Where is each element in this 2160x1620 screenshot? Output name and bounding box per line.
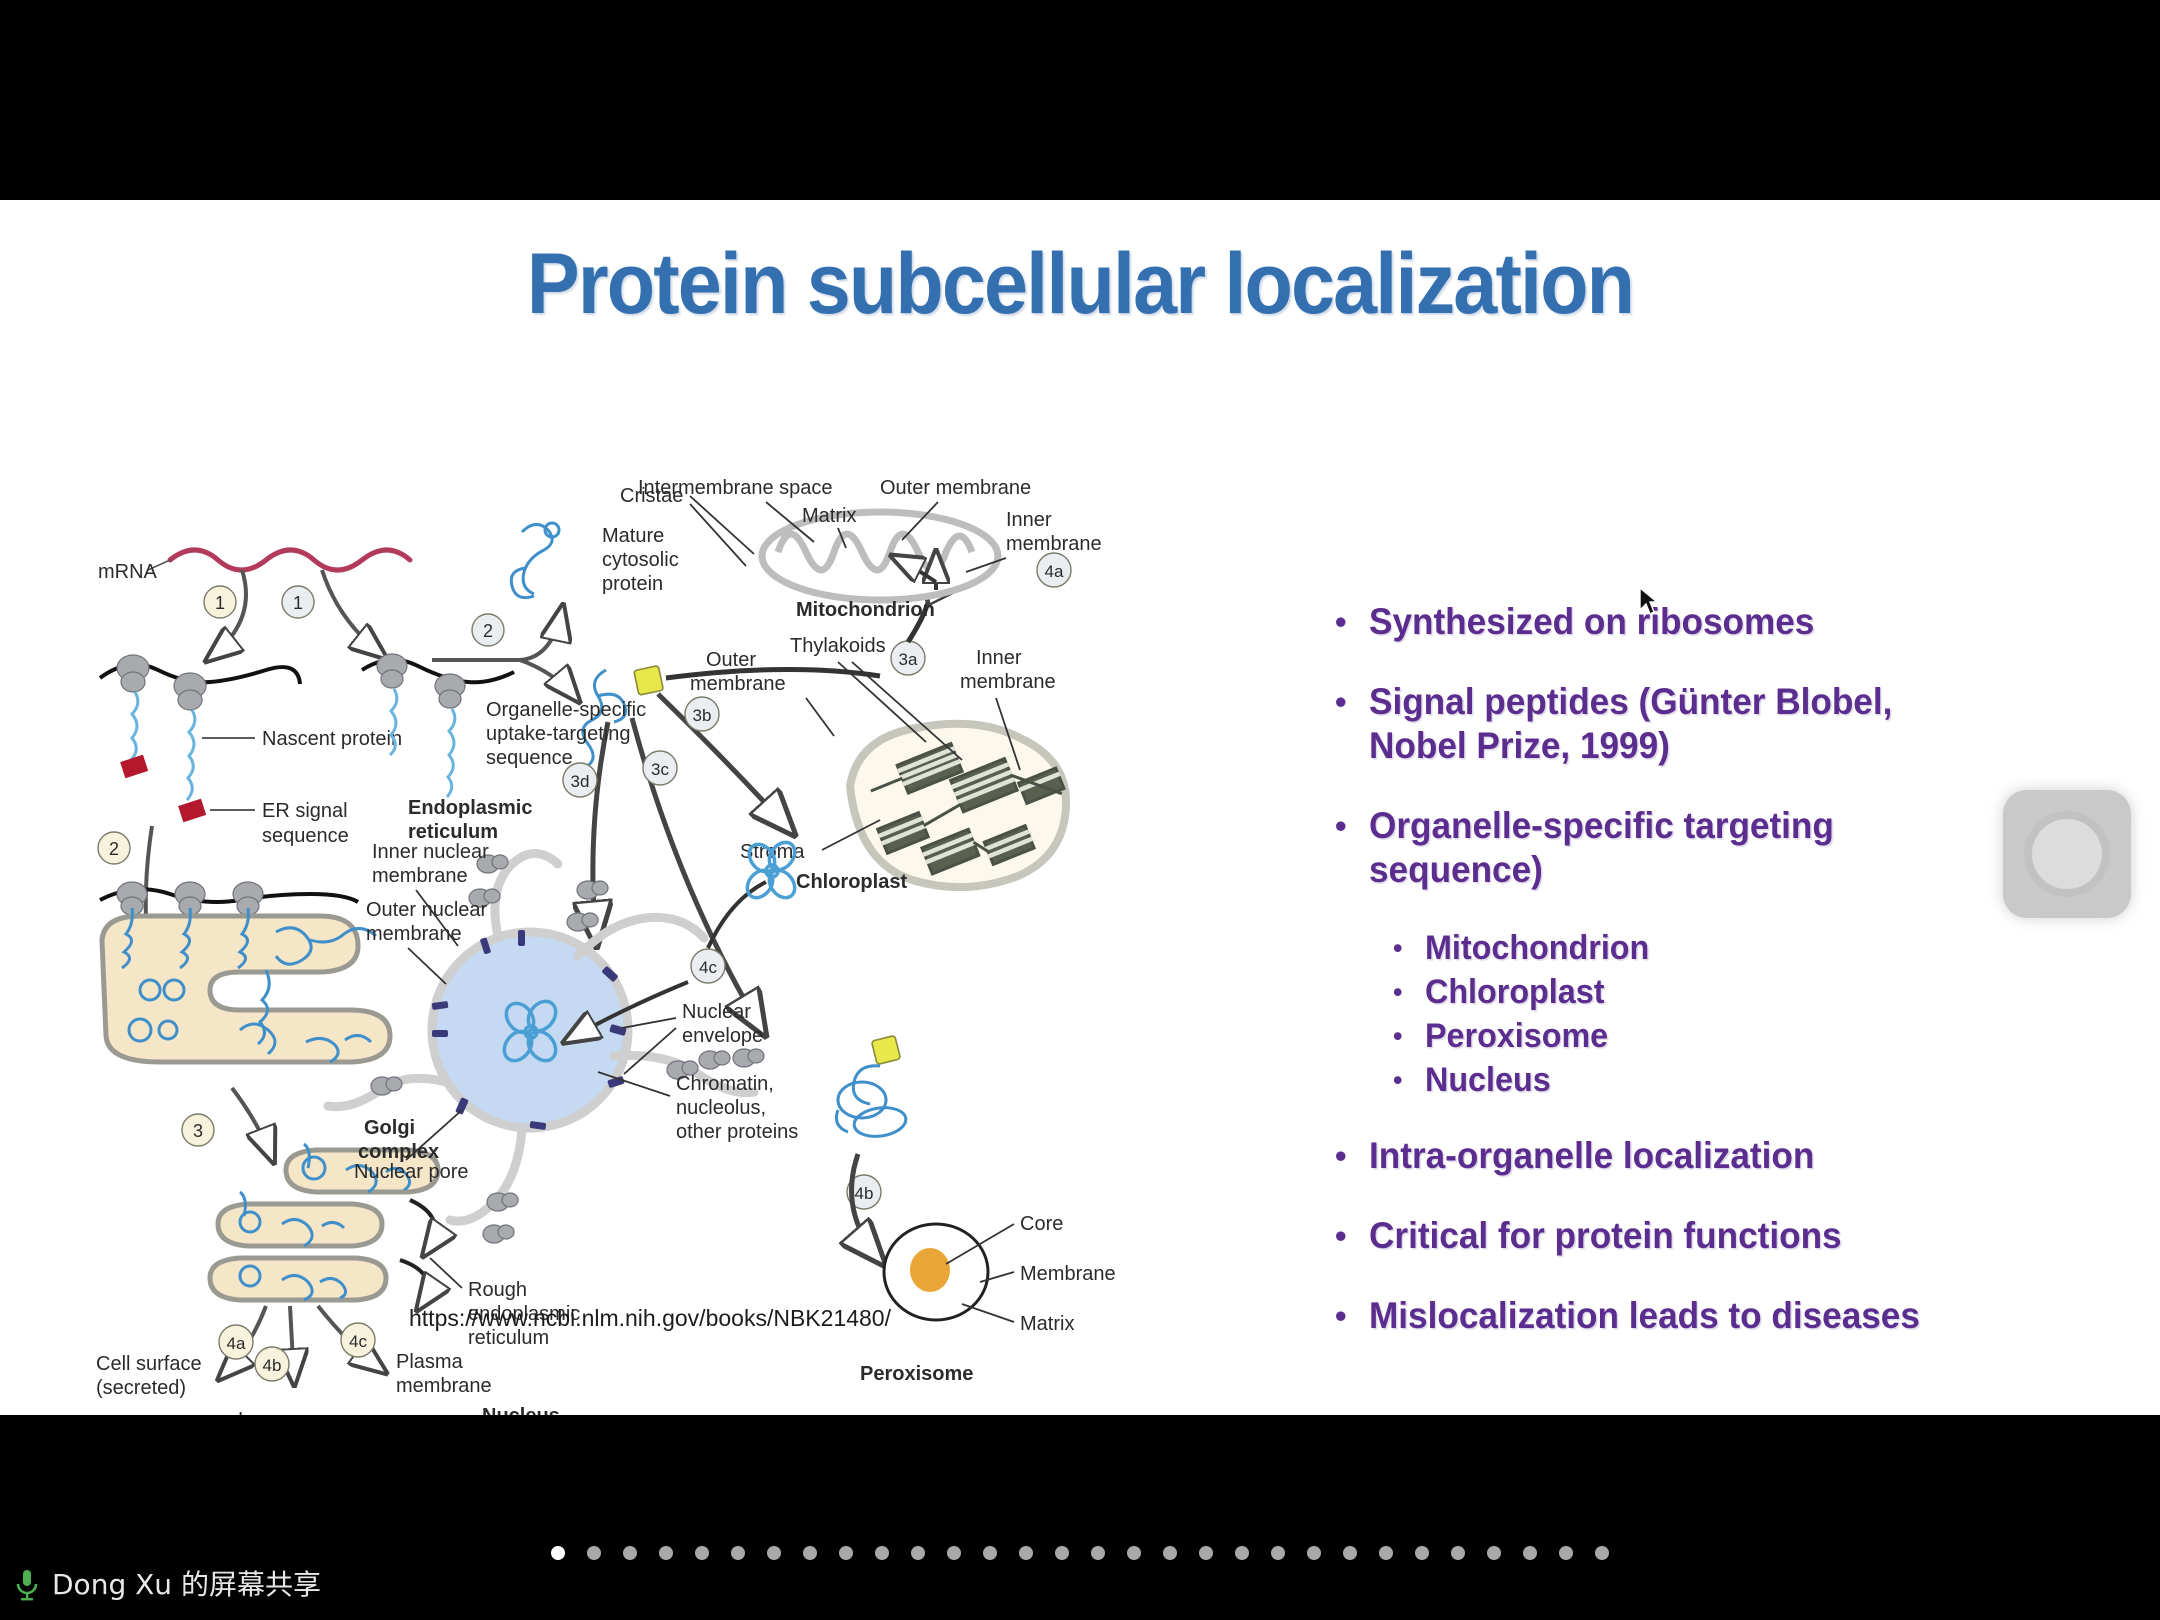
share-status: Dong Xu 的屏幕共享 [14,1568,321,1602]
label-outer-membrane-mito: Outer membrane [880,477,1031,499]
label-chromatin-2: nucleolus, [676,1097,766,1119]
peroxisome-core [910,1248,950,1292]
step-badge-2-left: 2 [98,832,130,864]
label-cell-surface-2: (secreted) [96,1377,186,1399]
bullet-marker: • [1393,1060,1425,1100]
peroxisome-targeting-tag [871,1035,900,1064]
svg-text:3b: 3b [693,706,712,725]
label-golgi-1: Golgi [364,1117,415,1139]
slide-pagination-dots[interactable] [0,1546,2160,1560]
share-status-label: Dong Xu 的屏幕共享 [52,1568,321,1602]
svg-text:2: 2 [483,621,493,641]
pagination-dot[interactable] [659,1546,673,1560]
mouse-cursor [1638,586,1660,616]
video-thumbnail-avatar [2032,819,2102,889]
label-plasma-2: membrane [396,1375,492,1397]
pagination-dot[interactable] [695,1546,709,1560]
sub-bullet-item-2: • Peroxisome [1393,1016,2095,1056]
pagination-dot[interactable] [839,1546,853,1560]
pagination-dot[interactable] [1235,1546,1249,1560]
pagination-dot[interactable] [947,1546,961,1560]
pagination-dot[interactable] [587,1546,601,1560]
label-mature-3: protein [602,573,663,595]
label-uptake-1: Organelle-specific [486,699,646,721]
bullet-item-3: • Intra-organelle localization [1335,1134,2095,1178]
bullet-item-0: • Synthesized on ribosomes [1335,600,2095,644]
pagination-dot[interactable] [875,1546,889,1560]
step-badge-4c-nucleus: 4c [691,949,725,983]
label-cell-surface-1: Cell surface [96,1353,202,1375]
label-nuclear-pore: Nuclear pore [354,1161,469,1183]
bullet-marker: • [1393,972,1425,1012]
pagination-dot[interactable] [1199,1546,1213,1560]
pagination-dot[interactable] [1091,1546,1105,1560]
label-chloroplast: Chloroplast [796,871,907,893]
svg-text:4c: 4c [349,1332,367,1351]
svg-text:4b: 4b [855,1184,874,1203]
pagination-dot[interactable] [1163,1546,1177,1560]
participant-video-thumbnail[interactable] [2003,790,2131,918]
label-inner-membrane-chloro-2: membrane [960,671,1056,693]
sub-bullet-item-3: • Nucleus [1393,1060,2095,1100]
sub-bullet-text: Peroxisome [1425,1016,1608,1056]
bullet-text: Intra-organelle localization [1369,1134,1814,1178]
targeting-tag [634,666,664,696]
label-er-2: reticulum [408,821,498,843]
pagination-dot[interactable] [623,1546,637,1560]
svg-text:3c: 3c [651,760,669,779]
label-core: Core [1020,1213,1063,1235]
sub-bullet-text: Nucleus [1425,1060,1551,1100]
peroxisome-cargo-protein [836,1066,907,1140]
label-inner-membrane-chloro-1: Inner [976,647,1022,669]
step-badge-3a: 3a [891,641,925,675]
step-badge-3b: 3b [685,697,719,731]
pagination-dot[interactable] [1307,1546,1321,1560]
label-plasma-1: Plasma [396,1351,464,1373]
label-thylakoids: Thylakoids [790,635,886,657]
label-cristae: Cristae [620,485,683,507]
page-title: Protein subcellular localization [86,235,2073,334]
bullet-text: Mislocalization leads to diseases [1369,1294,1920,1338]
pagination-dot[interactable] [1559,1546,1573,1560]
label-mitochondrion: Mitochondrion [796,599,935,621]
label-inner-nuclear-1: Inner nuclear [372,841,489,863]
bullet-marker: • [1335,600,1369,644]
label-nuclear-envelope-2: envelope [682,1025,763,1047]
pagination-dot[interactable] [1055,1546,1069,1560]
svg-text:1: 1 [215,593,225,613]
label-inner-membrane-mito-1: Inner [1006,509,1052,531]
bullet-item-5: • Mislocalization leads to diseases [1335,1294,2095,1338]
pagination-dot[interactable] [1271,1546,1285,1560]
pagination-dot[interactable] [1379,1546,1393,1560]
label-rough-er-1: Rough [468,1279,527,1301]
source-url-caption: https://www.ncbi.nlm.nih.gov/books/NBK21… [300,1305,1000,1332]
pagination-dot[interactable] [551,1546,565,1560]
bullet-marker: • [1335,1294,1369,1338]
bullet-marker: • [1393,1016,1425,1056]
screen-share-viewport: Protein subcellular localization mRNA [0,0,2160,1620]
pagination-dot[interactable] [983,1546,997,1560]
sub-bullet-text: Mitochondrion [1425,928,1649,968]
pagination-dot[interactable] [911,1546,925,1560]
svg-text:3a: 3a [899,650,918,669]
label-uptake-3: sequence [486,747,573,769]
step-badge-4a-left: 4a [219,1325,253,1359]
bullet-item-2: • Organelle-specific targeting sequence) [1335,804,2095,892]
step-badge-4a-mito: 4a [1037,553,1071,587]
pagination-dot[interactable] [1415,1546,1429,1560]
label-nascent-protein: Nascent protein [262,728,402,750]
label-inner-nuclear-2: membrane [372,865,468,887]
slide-bullet-list: • Synthesized on ribosomes • Signal pept… [1335,600,2095,1374]
label-er-signal-2: sequence [262,825,349,847]
bullet-text: Organelle-specific targeting sequence) [1369,804,1834,892]
presentation-slide: Protein subcellular localization mRNA [0,200,2160,1415]
pagination-dot[interactable] [803,1546,817,1560]
screen-share-bottom-bar: Dong Xu 的屏幕共享 [0,1415,2160,1620]
label-outer-nuclear-1: Outer nuclear [366,899,488,921]
pagination-dot[interactable] [1019,1546,1033,1560]
bullet-marker: • [1335,1214,1369,1258]
label-outer-membrane-chloro-1: Outer [706,649,756,671]
label-golgi-2: complex [358,1141,439,1163]
sub-bullet-item-1: • Chloroplast [1393,972,2095,1012]
bullet-text: Critical for protein functions [1369,1214,1842,1258]
label-chromatin-1: Chromatin, [676,1073,774,1095]
step-badge-3c: 3c [643,751,677,785]
svg-text:4a: 4a [227,1334,246,1353]
bullet-sublist: • Mitochondrion • Chloroplast • Peroxiso… [1393,928,2095,1100]
bullet-marker: • [1335,804,1369,848]
sub-bullet-item-0: • Mitochondrion [1393,928,2095,968]
label-outer-nuclear-2: membrane [366,923,462,945]
label-uptake-2: uptake-targeting [486,723,631,745]
bullet-text: Synthesized on ribosomes [1369,600,1814,644]
pagination-dot[interactable] [1595,1546,1609,1560]
svg-text:3d: 3d [571,772,590,791]
label-matrix-perox: Matrix [1020,1313,1074,1335]
label-matrix-mito: Matrix [802,505,856,527]
label-er-signal-1: ER signal [262,800,348,822]
sub-bullet-text: Chloroplast [1425,972,1604,1012]
bullet-item-1: • Signal peptides (Günter Blobel, Nobel … [1335,680,2095,768]
label-nuclear-envelope-1: Nuclear [682,1001,751,1023]
mature-cytosolic-protein-glyph [511,523,559,598]
label-peroxisome: Peroxisome [860,1363,973,1385]
label-membrane-perox: Membrane [1020,1263,1116,1285]
pagination-dot[interactable] [1343,1546,1357,1560]
step-badge-1b: 1 [282,586,314,618]
pagination-dot[interactable] [731,1546,745,1560]
svg-text:1: 1 [293,593,303,613]
label-er-1: Endoplasmic [408,797,532,819]
microphone-icon [14,1568,40,1602]
pagination-dot[interactable] [1127,1546,1141,1560]
step-badge-1a: 1 [204,586,236,618]
bullet-marker: • [1393,928,1425,968]
bullet-text: Signal peptides (Günter Blobel, Nobel Pr… [1369,680,1892,768]
bullet-marker: • [1335,1134,1369,1178]
svg-text:2: 2 [109,839,119,859]
label-mrna: mRNA [98,561,158,583]
label-chromatin-3: other proteins [676,1121,798,1143]
pagination-dot[interactable] [1523,1546,1537,1560]
label-inner-membrane-mito-2: membrane [1006,533,1102,555]
bullet-item-4: • Critical for protein functions [1335,1214,2095,1258]
step-badge-2-center: 2 [472,614,504,646]
pagination-dot[interactable] [1487,1546,1501,1560]
pagination-dot[interactable] [1451,1546,1465,1560]
step-badge-4b-left: 4b [255,1347,289,1381]
mitochondrion-outer-membrane [762,512,998,600]
label-outer-membrane-chloro-2: membrane [690,673,786,695]
label-mature-2: cytosolic [602,549,679,571]
svg-text:4b: 4b [263,1356,282,1375]
svg-text:4c: 4c [699,958,717,977]
step-badge-3: 3 [182,1114,214,1146]
label-mature-1: Mature [602,525,664,547]
bullet-marker: • [1335,680,1369,724]
svg-text:3: 3 [193,1121,203,1141]
pagination-dot[interactable] [767,1546,781,1560]
svg-text:4a: 4a [1045,562,1064,581]
